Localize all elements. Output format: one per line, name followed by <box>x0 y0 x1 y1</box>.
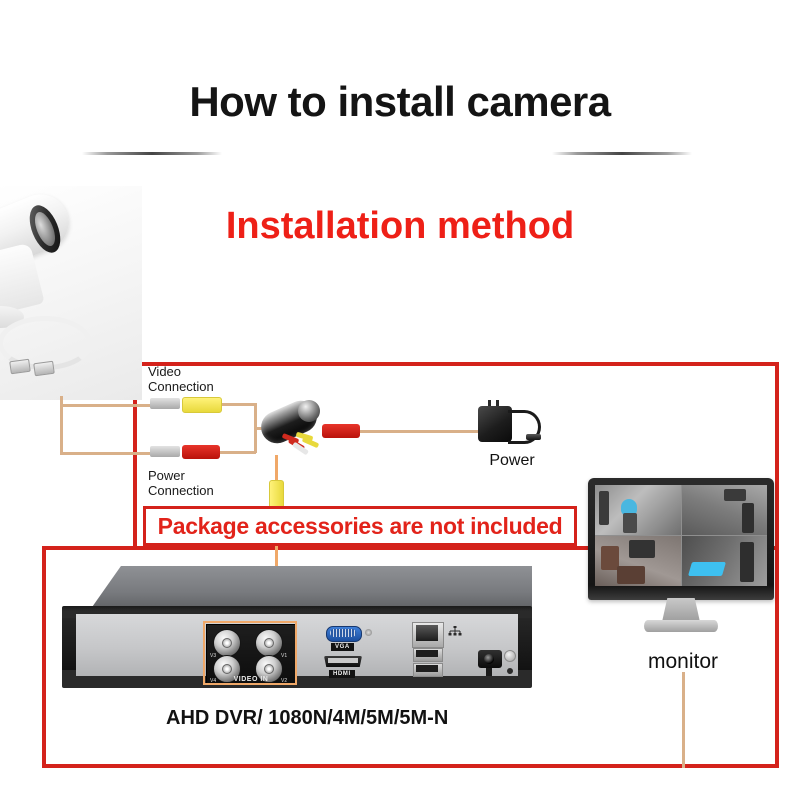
quadrant-rack <box>740 542 754 582</box>
cctv-quadrant-3 <box>595 536 681 586</box>
monitor-screen <box>595 485 767 586</box>
wire-splitter-down-top <box>275 455 278 481</box>
adapter-body <box>478 406 512 442</box>
wire-splitter-to-adapter <box>360 430 480 433</box>
label-power-connection-line1: Power <box>148 468 214 483</box>
monitor-stand-neck <box>662 598 700 622</box>
dvr-model-label: AHD DVR/ 1080N/4M/5M/5M-N <box>42 707 642 730</box>
camera-connector-dc <box>33 361 55 377</box>
splitter-cap <box>298 400 320 422</box>
lan-network-icon <box>448 626 462 638</box>
wire-video-to-hub <box>220 403 256 406</box>
dvr-icon: V3 V1 V4 V2 VIDEO IN VGA HDMI <box>62 566 532 696</box>
vga-thumbscrew <box>365 629 372 636</box>
ethernet-port-inner <box>416 625 438 641</box>
wire-monitor-to-dvr <box>682 672 685 768</box>
ground-screw-icon <box>504 650 516 662</box>
dvr-bracket-right <box>516 618 532 670</box>
header-divider-left <box>82 152 222 155</box>
monitor-bezel <box>588 478 774 600</box>
connector-yellow-video <box>182 397 222 413</box>
monitor-stand-base <box>644 620 718 632</box>
power-splitter-icon <box>258 400 322 458</box>
quadrant-pole <box>742 503 754 533</box>
label-video-connection-line1: Video <box>148 364 214 379</box>
wire-camera-vertical <box>60 396 63 454</box>
monitor-icon <box>588 478 778 643</box>
header-divider-right <box>552 152 692 155</box>
cctv-quadrant-2 <box>682 485 768 535</box>
usb-port-1-inner <box>416 650 438 657</box>
panel-screw-hole <box>507 668 513 674</box>
quadrant-machine <box>629 540 655 558</box>
connector-red-adapter-side <box>322 424 360 438</box>
dvr-rear-panel: V3 V1 V4 V2 VIDEO IN VGA HDMI <box>76 614 518 676</box>
cctv-quadrant-4 <box>682 536 768 586</box>
wire-power-to-hub <box>220 451 256 454</box>
quadrant-figure <box>623 513 637 533</box>
label-video-connection: Video Connection <box>148 364 214 394</box>
vga-pin-row <box>330 629 356 637</box>
wire-camera-video <box>60 404 150 407</box>
dc-jack-tab <box>486 668 492 676</box>
hdmi-label: HDMI <box>329 670 355 678</box>
dvr-rear-face: V3 V1 V4 V2 VIDEO IN VGA HDMI <box>62 606 532 688</box>
connector-grey-video <box>150 398 180 409</box>
label-monitor: monitor <box>588 650 778 674</box>
video-in-highlight-box <box>203 621 297 685</box>
cctv-quadrant-1 <box>595 485 681 535</box>
dc-power-jack-inner <box>484 654 494 664</box>
connector-grey-power <box>150 446 180 457</box>
power-adapter-icon <box>478 400 544 452</box>
adapter-dc-tip <box>526 434 541 440</box>
bullet-camera-icon <box>0 186 142 400</box>
hdmi-port-inner <box>328 658 358 663</box>
label-power-connection: Power Connection <box>148 468 214 498</box>
connector-red-power <box>182 445 220 459</box>
vga-label: VGA <box>331 643 354 651</box>
usb-port-2-inner <box>416 665 438 672</box>
label-power-connection-line2: Connection <box>148 483 214 498</box>
quadrant-blue-tarp <box>687 562 725 576</box>
quadrant-dark-detail <box>724 489 746 501</box>
label-video-connection-line2: Connection <box>148 379 214 394</box>
dvr-chassis-top <box>90 566 532 610</box>
label-power-adapter: Power <box>472 452 552 470</box>
installation-diagram-page: How to install camera Installation metho… <box>0 0 800 800</box>
warning-banner: Package accessories are not included <box>143 506 577 546</box>
camera-connector-bnc <box>9 359 31 375</box>
quadrant-floor <box>617 566 645 584</box>
warning-banner-text: Package accessories are not included <box>158 513 563 540</box>
wire-camera-power <box>60 452 150 455</box>
quadrant-dark-detail <box>599 491 609 525</box>
page-title: How to install camera <box>0 78 800 126</box>
